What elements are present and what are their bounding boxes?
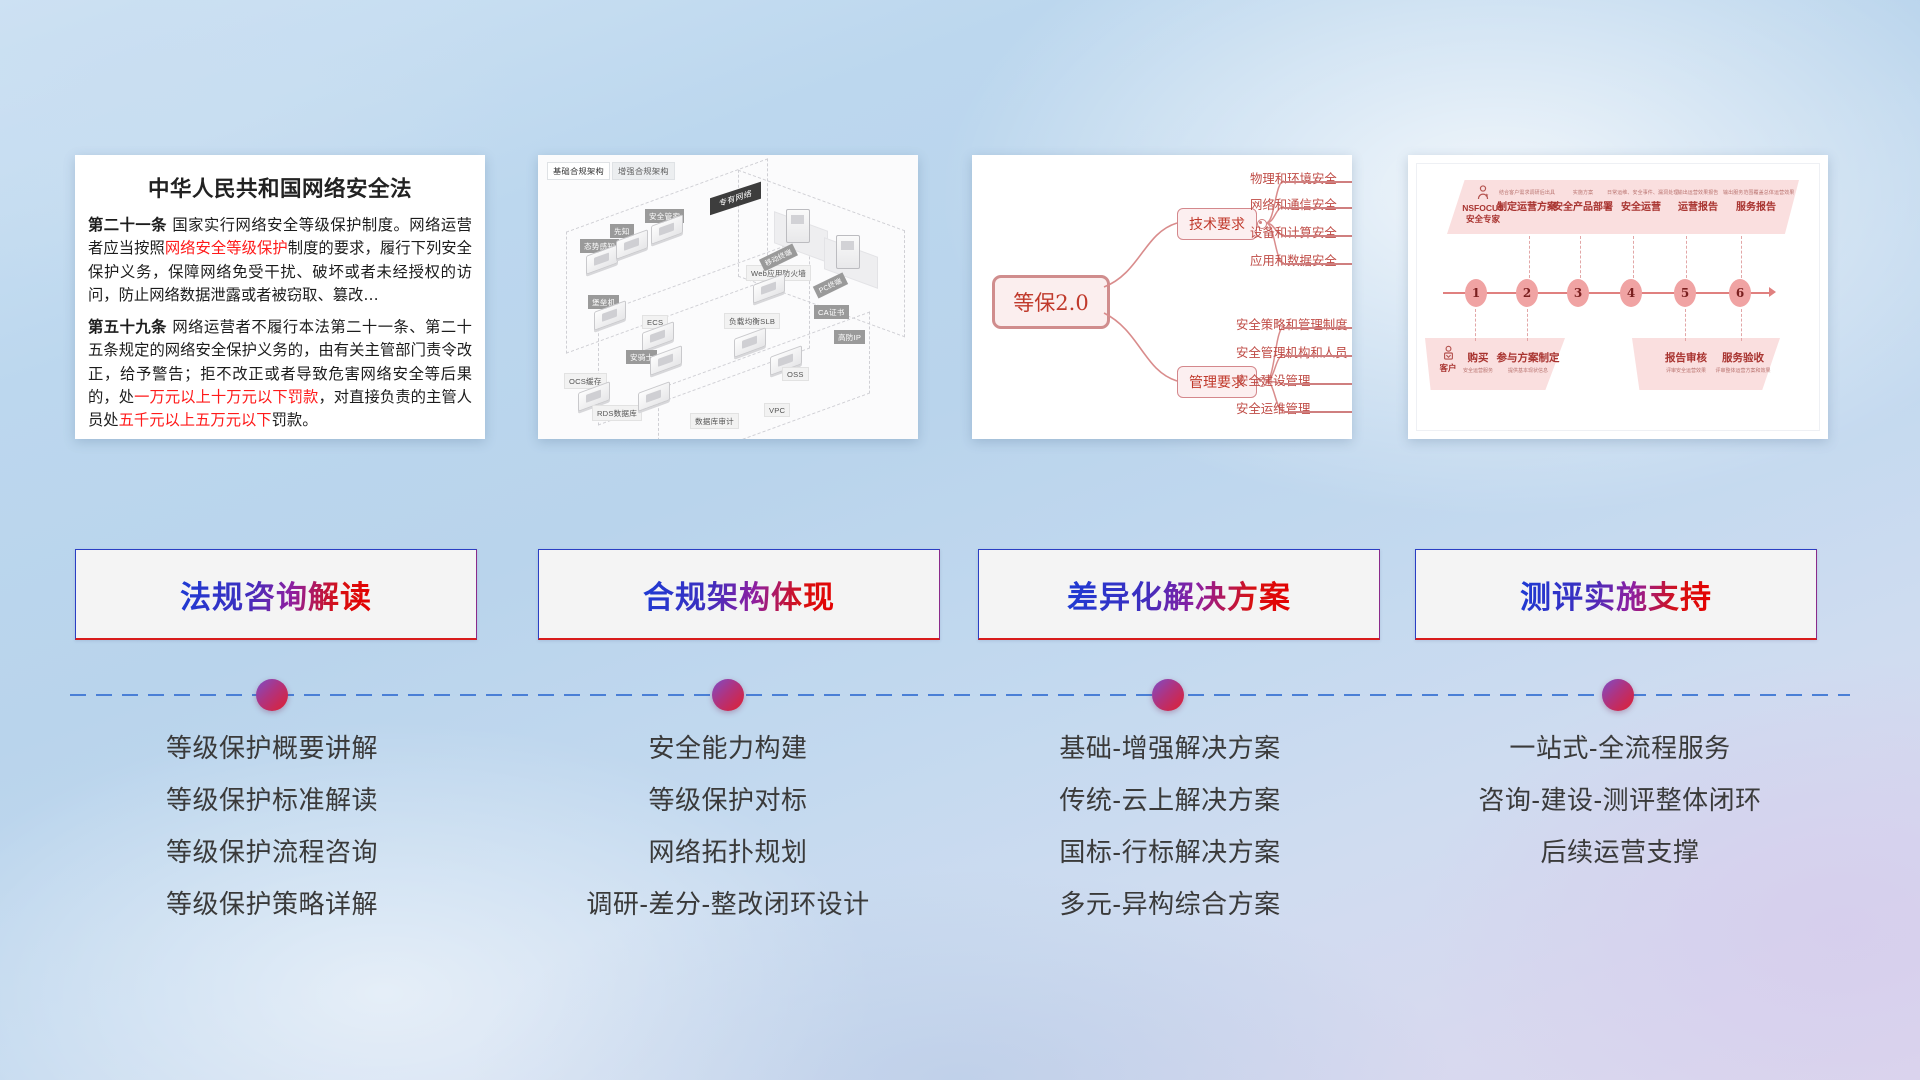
card-nsfocus-timeline: NSFOCUS 安全专家 1 2 3 4 5 6 结合客户需求调研后出具 — [1408, 155, 1828, 439]
timeline-connector-2-bottom — [1527, 309, 1529, 341]
law-title: 中华人民共和国网络安全法 — [75, 172, 485, 203]
mindmap-leaf-org-personnel: 安全管理机构和人员 — [1236, 343, 1348, 361]
timeline-step-6-bottom-sub: 评审整体运营方案和效果 — [1709, 367, 1777, 374]
timeline-node-2[interactable]: 2 — [1516, 279, 1538, 307]
timeline-step-2-bottom: 参与方案制定 提供基本现状信息 — [1495, 350, 1561, 374]
mindmap-leafline-6 — [1284, 355, 1352, 357]
headline-box-regulation-consulting[interactable]: 法规咨询解读 — [75, 549, 477, 640]
label-anti-ddos-ip: 高防IP — [834, 330, 865, 344]
architecture-tabs: 基础合规架构 增强合规架构 — [547, 162, 675, 180]
list-item: 后续运营支撑 — [1400, 839, 1840, 865]
list-item: 等级保护策略详解 — [52, 891, 492, 917]
timeline-step-2-bottom-sub: 提供基本现状信息 — [1495, 367, 1561, 374]
timeline-step-6-top: 输出服务范围覆盖总体运营效果 服务报告 — [1723, 189, 1789, 213]
mindmap-root: 等保2.0 — [992, 275, 1110, 329]
tab-enhanced-compliance[interactable]: 增强合规架构 — [612, 162, 675, 180]
list-item: 传统-云上解决方案 — [950, 787, 1390, 813]
timeline-step-2-sub: 结合客户需求调研后出具 — [1495, 189, 1559, 196]
timeline-step-5-title: 运营报告 — [1667, 198, 1729, 213]
label-rds-db: RDS数据库 — [592, 405, 642, 421]
timeline-step-4-sub: 日常运维、安全事件、漏洞处理 — [1607, 189, 1675, 196]
node-pc-terminal — [836, 235, 860, 269]
list-item: 等级保护概要讲解 — [52, 735, 492, 761]
list-item: 等级保护标准解读 — [52, 787, 492, 813]
node-mobile-terminal — [786, 209, 810, 243]
tab-basic-compliance[interactable]: 基础合规架构 — [547, 162, 610, 180]
timeline-step-3-title: 安全产品部署 — [1551, 198, 1615, 213]
timeline-arrow-icon — [1769, 287, 1776, 297]
slide-stage: 中华人民共和国网络安全法 第二十一条 国家实行网络安全等级保护制度。网络运营者应… — [0, 0, 1920, 1080]
nsfocus-brand-line2: 安全专家 — [1457, 214, 1509, 225]
timeline-node-4[interactable]: 4 — [1620, 279, 1642, 307]
law-body: 第二十一条 国家实行网络安全等级保护制度。网络运营者应当按照网络安全等级保护制度… — [75, 214, 485, 432]
timeline-marker-2[interactable] — [712, 679, 744, 711]
mindmap-leaf-ops-mgmt: 安全运维管理 — [1236, 399, 1310, 417]
mindmap: 等保2.0 技术要求 物理和环境安全 网络和通信安全 — [972, 155, 1352, 439]
expert-person-icon — [1474, 184, 1492, 202]
timeline-connector-5 — [1686, 236, 1688, 278]
label-oss: OSS — [782, 367, 809, 381]
timeline-axis — [1443, 292, 1773, 294]
list-item: 等级保护流程咨询 — [52, 839, 492, 865]
headline-label-3: 差异化解决方案 — [1067, 572, 1291, 617]
timeline-step-4-top: 日常运维、安全事件、漏洞处理 安全运营 — [1607, 189, 1675, 213]
timeline-step-2-title: 制定运营方案 — [1495, 198, 1559, 213]
card-cybersecurity-law: 中华人民共和国网络安全法 第二十一条 国家实行网络安全等级保护制度。网络运营者应… — [75, 155, 485, 439]
architecture-diagram: 基础合规架构 增强合规架构 专有网络 态势感知 先知 安全管家 堡垒机 — [538, 155, 918, 439]
label-vpc: VPC — [764, 403, 790, 417]
timeline-step-6-bottom: 服务验收 评审整体运营方案和效果 — [1709, 350, 1777, 374]
timeline-connector-3 — [1580, 236, 1582, 278]
column-regulation-consulting: 等级保护概要讲解 等级保护标准解读 等级保护流程咨询 等级保护策略详解 — [52, 735, 492, 943]
timeline-node-3[interactable]: 3 — [1567, 279, 1589, 307]
timeline-connector-5-bottom — [1685, 309, 1687, 341]
headline-label-1: 法规咨询解读 — [180, 572, 372, 617]
timeline-connector-4 — [1633, 236, 1635, 278]
list-item: 调研-差分-整改闭环设计 — [508, 891, 948, 917]
timeline-step-6-bottom-title: 服务验收 — [1709, 350, 1777, 365]
list-item: 多元-异构综合方案 — [950, 891, 1390, 917]
timeline-step-5-sub: 输出运营效果报告 — [1667, 189, 1729, 196]
mindmap-leaf-app-data: 应用和数据安全 — [1250, 251, 1337, 269]
timeline-step-2-top: 结合客户需求调研后出具 制定运营方案 — [1495, 189, 1559, 213]
timeline-step-3-top: 实施方案 安全产品部署 — [1551, 189, 1615, 213]
law-article-59-post: 罚款。 — [272, 411, 318, 429]
timeline-step-6-title: 服务报告 — [1723, 198, 1789, 213]
timeline-connector-6-bottom — [1741, 309, 1743, 341]
customer-person-icon — [1440, 344, 1457, 362]
timeline-marker-3[interactable] — [1152, 679, 1184, 711]
timeline-step-5-bottom: 报告审核 评审安全运营效果 — [1655, 350, 1717, 374]
headline-box-evaluation-support[interactable]: 测评实施支持 — [1415, 549, 1817, 640]
label-ca-cert: CA证书 — [814, 305, 849, 319]
headline-row: 法规咨询解读 合规架构体现 差异化解决方案 测评实施支持 — [0, 549, 1920, 644]
law-article-21-highlight: 网络安全等级保护 — [165, 239, 288, 257]
timeline-step-5-top: 输出运营效果报告 运营报告 — [1667, 189, 1729, 213]
label-slb: 负载均衡SLB — [724, 313, 780, 329]
mindmap-leafline-3 — [1284, 235, 1352, 237]
label-db-audit: 数据库审计 — [690, 413, 739, 429]
timeline-connector-6 — [1741, 236, 1743, 278]
mindmap-leafline-5 — [1284, 327, 1352, 329]
timeline-step-6-sub: 输出服务范围覆盖总体运营效果 — [1723, 189, 1789, 196]
column-compliance-architecture: 安全能力构建 等级保护对标 网络拓扑规划 调研-差分-整改闭环设计 — [508, 735, 948, 943]
list-item: 国标-行标解决方案 — [950, 839, 1390, 865]
list-item: 网络拓扑规划 — [508, 839, 948, 865]
timeline-step-5-bottom-sub: 评审安全运营效果 — [1655, 367, 1717, 374]
mindmap-branch-technical: 技术要求 — [1177, 208, 1257, 240]
list-item: 等级保护对标 — [508, 787, 948, 813]
law-article-21-number: 第二十一条 — [88, 216, 167, 234]
list-item: 一站式-全流程服务 — [1400, 735, 1840, 761]
mindmap-leafline-4 — [1284, 263, 1352, 265]
column-evaluation-support: 一站式-全流程服务 咨询-建设-测评整体闭环 后续运营支撑 — [1400, 735, 1840, 891]
mindmap-leaf-construction-mgmt: 安全建设管理 — [1236, 371, 1310, 389]
timeline-step-5-bottom-title: 报告审核 — [1655, 350, 1717, 365]
timeline-connector-2 — [1529, 236, 1531, 278]
timeline-marker-4[interactable] — [1602, 679, 1634, 711]
headline-label-2: 合规架构体现 — [643, 572, 835, 617]
timeline-step-4-title: 安全运营 — [1607, 198, 1675, 213]
mindmap-leaf-policy-system: 安全策略和管理制度 — [1236, 315, 1348, 333]
list-item: 安全能力构建 — [508, 735, 948, 761]
mindmap-leaf-network-comm: 网络和通信安全 — [1250, 195, 1337, 213]
dashed-timeline — [70, 694, 1850, 696]
mindmap-leafline-2 — [1284, 207, 1352, 209]
list-item: 咨询-建设-测评整体闭环 — [1400, 787, 1840, 813]
timeline-node-5[interactable]: 5 — [1674, 279, 1696, 307]
mindmap-leafline-8 — [1284, 411, 1352, 413]
card-cloud-architecture: 基础合规架构 增强合规架构 专有网络 态势感知 先知 安全管家 堡垒机 — [538, 155, 918, 439]
timeline-step-2-bottom-title: 参与方案制定 — [1495, 350, 1561, 365]
law-article-59-highlight-2: 五千元以上五万元以下 — [119, 411, 272, 429]
law-article-59: 第五十九条 网络运营者不履行本法第二十一条、第二十五条规定的网络安全保护义务的，… — [88, 316, 472, 432]
mindmap-leafline-7 — [1284, 383, 1352, 385]
mindmap-leafline-1 — [1284, 181, 1352, 183]
nsfocus-inner-frame: NSFOCUS 安全专家 1 2 3 4 5 6 结合客户需求调研后出具 — [1416, 163, 1820, 431]
timeline-node-6[interactable]: 6 — [1729, 279, 1751, 307]
screenshot-card-row: 中华人民共和国网络安全法 第二十一条 国家实行网络安全等级保护制度。网络运营者应… — [0, 155, 1920, 445]
mindmap-leaf-physical-env: 物理和环境安全 — [1250, 169, 1337, 187]
headline-box-differentiated-solution[interactable]: 差异化解决方案 — [978, 549, 1380, 640]
bullet-columns: 等级保护概要讲解 等级保护标准解读 等级保护流程咨询 等级保护策略详解 安全能力… — [0, 735, 1920, 1015]
list-item: 基础-增强解决方案 — [950, 735, 1390, 761]
mindmap-leaf-device-compute: 设备和计算安全 — [1250, 223, 1337, 241]
timeline-step-3-sub: 实施方案 — [1551, 189, 1615, 196]
law-article-59-number: 第五十九条 — [88, 318, 167, 336]
column-differentiated-solution: 基础-增强解决方案 传统-云上解决方案 国标-行标解决方案 多元-异构综合方案 — [950, 735, 1390, 943]
law-article-21: 第二十一条 国家实行网络安全等级保护制度。网络运营者应当按照网络安全等级保护制度… — [88, 214, 472, 307]
timeline-marker-1[interactable] — [256, 679, 288, 711]
timeline-node-1[interactable]: 1 — [1465, 279, 1487, 307]
card-mindmap-dengbao: 等保2.0 技术要求 物理和环境安全 网络和通信安全 — [972, 155, 1352, 439]
headline-label-4: 测评实施支持 — [1520, 572, 1712, 617]
law-article-59-highlight-1: 一万元以上十万元以下罚款 — [134, 388, 318, 406]
headline-box-compliance-architecture[interactable]: 合规架构体现 — [538, 549, 940, 640]
nsfocus-diagram: NSFOCUS 安全专家 1 2 3 4 5 6 结合客户需求调研后出具 — [1408, 155, 1828, 439]
timeline-connector-1-bottom — [1475, 309, 1477, 341]
